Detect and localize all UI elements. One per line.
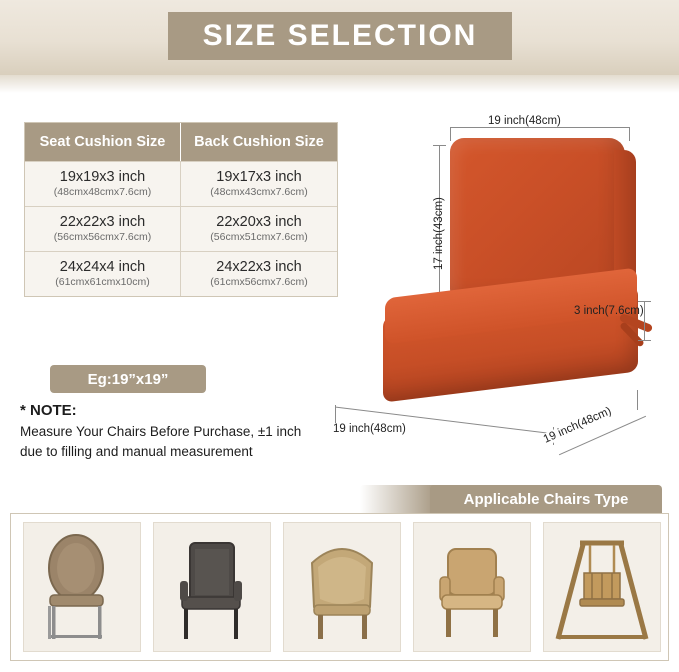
table-row: 24x24x4 inch (61cmx61cmx10cm) 24x22x3 in…	[25, 251, 337, 296]
back-size-metric: (48cmx43cmx7.6cm)	[185, 186, 333, 198]
seat-width-label: 19 inch(48cm)	[330, 423, 409, 435]
header-gradient-fade	[0, 75, 679, 93]
chair-item-rattan-stacking-chair	[23, 522, 141, 652]
thickness-label: 3 inch(7.6cm)	[574, 305, 644, 317]
chairs-panel	[10, 513, 669, 661]
chair-item-wooden-porch-swing	[543, 522, 661, 652]
table-cell-back: 24x22x3 inch (61cmx56cmx7.6cm)	[181, 252, 337, 296]
seat-depth-tick	[637, 390, 638, 410]
table-row: 19x19x3 inch (48cmx48cmx7.6cm) 19x17x3 i…	[25, 161, 337, 206]
seat-size-metric: (56cmx56cmx7.6cm)	[29, 231, 176, 243]
table-row: 22x22x3 inch (56cmx56cmx7.6cm) 22x20x3 i…	[25, 206, 337, 251]
note-title: * NOTE:	[20, 402, 320, 419]
back-width-dimension-line	[450, 127, 630, 128]
back-size-metric: (61cmx56cmx7.6cm)	[185, 276, 333, 288]
example-size-badge: Eg:19”x19”	[50, 365, 206, 393]
table-cell-seat: 24x24x4 inch (61cmx61cmx10cm)	[25, 252, 181, 296]
rattan-stacking-chair-icon	[24, 523, 140, 651]
back-size-value: 24x22x3 inch	[185, 259, 333, 275]
thickness-tick-top	[638, 301, 651, 302]
back-width-tick-right	[629, 127, 630, 141]
dark-wicker-armchair-icon	[154, 523, 270, 651]
seat-size-metric: (61cmx61cmx10cm)	[29, 276, 176, 288]
seat-size-metric: (48cmx48cmx7.6cm)	[29, 186, 176, 198]
example-size-label: Eg:19”x19”	[88, 371, 169, 388]
size-table: Seat Cushion Size Back Cushion Size 19x1…	[24, 122, 338, 297]
back-size-metric: (56cmx51cmx7.6cm)	[185, 231, 333, 243]
chair-item-dark-wicker-armchair	[153, 522, 271, 652]
thickness-tick-bottom	[638, 340, 651, 341]
table-cell-back: 22x20x3 inch (56cmx51cmx7.6cm)	[181, 207, 337, 251]
back-size-value: 22x20x3 inch	[185, 214, 333, 230]
table-cell-seat: 19x19x3 inch (48cmx48cmx7.6cm)	[25, 162, 181, 206]
table-header-seat: Seat Cushion Size	[25, 123, 181, 161]
natural-wicker-armchair-icon	[414, 523, 530, 651]
seat-size-value: 19x19x3 inch	[29, 169, 176, 185]
seat-size-value: 24x24x4 inch	[29, 259, 176, 275]
chairs-banner-fade	[360, 485, 435, 513]
note-body: Measure Your Chairs Before Purchase, ±1 …	[20, 422, 320, 461]
header-title-bar: SIZE SELECTION	[168, 12, 512, 60]
table-cell-seat: 22x22x3 inch (56cmx56cmx7.6cm)	[25, 207, 181, 251]
thickness-dimension-line	[644, 301, 645, 341]
back-height-tick-top	[433, 145, 446, 146]
header-banner: SIZE SELECTION	[0, 0, 679, 75]
back-width-label: 19 inch(48cm)	[485, 115, 564, 127]
seat-depth-label: 19 inch(48cm)	[539, 404, 616, 447]
round-wicker-tub-chair-icon	[284, 523, 400, 651]
seat-width-tick-left	[335, 405, 336, 423]
product-illustration: 19 inch(48cm) 17 inch(43cm) 3 inch(7.6cm…	[355, 105, 675, 475]
chairs-banner: Applicable Chairs Type	[430, 485, 662, 513]
chair-item-round-wicker-tub-chair	[283, 522, 401, 652]
table-cell-back: 19x17x3 inch (48cmx43cmx7.6cm)	[181, 162, 337, 206]
chairs-banner-label: Applicable Chairs Type	[464, 491, 629, 508]
table-header-back: Back Cushion Size	[181, 123, 337, 161]
back-height-label: 17 inch(43cm)	[433, 197, 445, 270]
wooden-porch-swing-icon	[544, 523, 660, 651]
page-title: SIZE SELECTION	[203, 19, 478, 53]
table-header-row: Seat Cushion Size Back Cushion Size	[25, 123, 337, 161]
note-block: * NOTE: Measure Your Chairs Before Purch…	[20, 402, 320, 461]
back-size-value: 19x17x3 inch	[185, 169, 333, 185]
chair-item-natural-wicker-armchair	[413, 522, 531, 652]
seat-size-value: 22x22x3 inch	[29, 214, 176, 230]
back-width-tick-left	[450, 127, 451, 141]
